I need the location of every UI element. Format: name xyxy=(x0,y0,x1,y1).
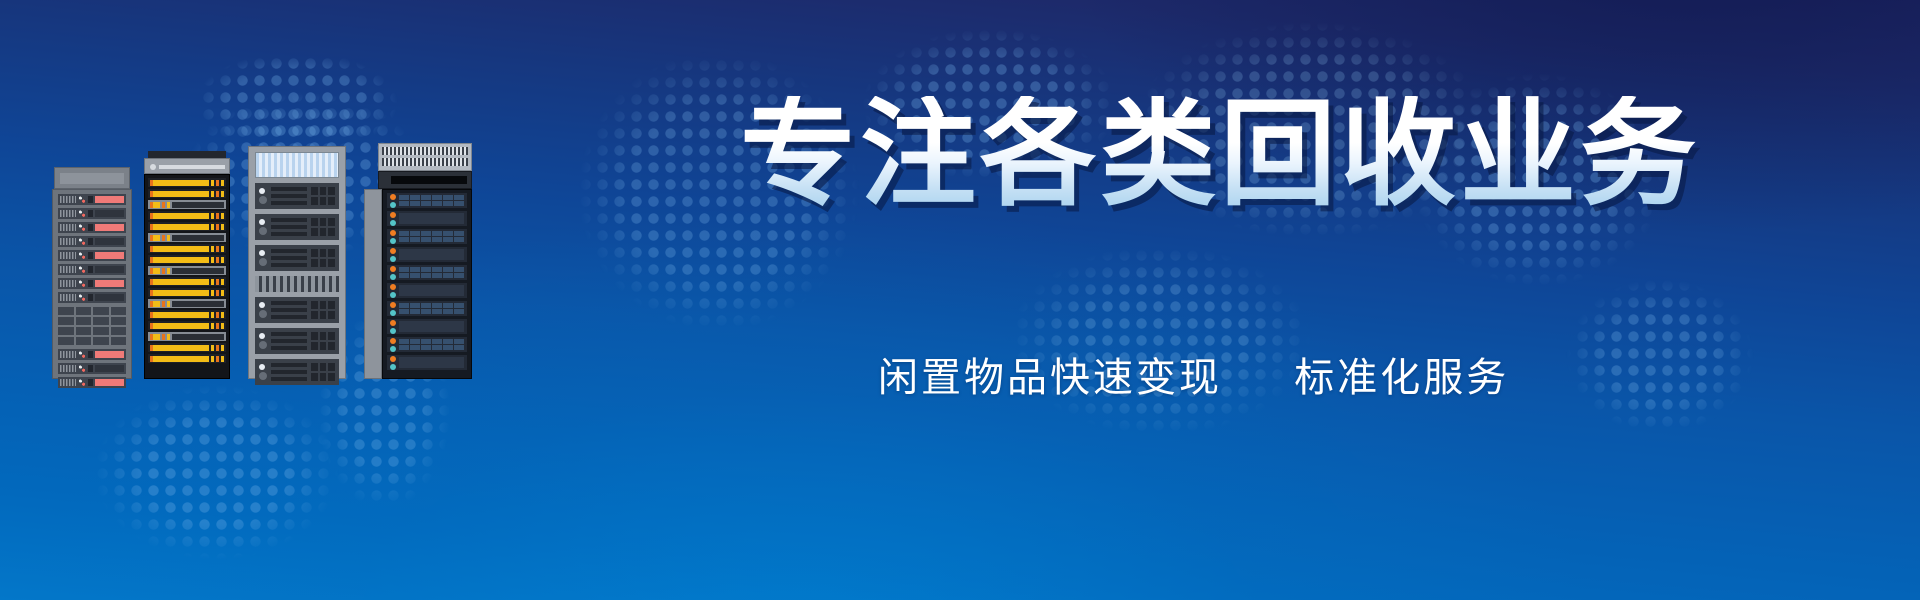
black-blade-server-rack-icon xyxy=(144,151,230,379)
dot-map-cluster-centre xyxy=(980,230,1340,460)
dot-map-cluster-lower-left xyxy=(60,380,360,590)
dark-tower-server-rack-icon xyxy=(364,143,472,379)
promo-banner: 专注各类回收业务 闲置物品快速变现 标准化服务 xyxy=(0,0,1920,600)
dot-map-cluster-north-america xyxy=(200,38,410,150)
page-title: 专注各类回收业务 xyxy=(740,96,1700,212)
subtitle-part-2: 标准化服务 xyxy=(1294,356,1509,400)
banner-subtitle: 闲置物品快速变现 标准化服务 xyxy=(878,358,1509,398)
server-rack-illustration xyxy=(52,143,492,379)
silver-server-rack-icon xyxy=(248,146,346,379)
dot-map-cluster-oceania xyxy=(1540,260,1790,460)
subtitle-part-1: 闲置物品快速变现 xyxy=(878,356,1222,400)
grey-server-rack-icon xyxy=(52,167,132,379)
